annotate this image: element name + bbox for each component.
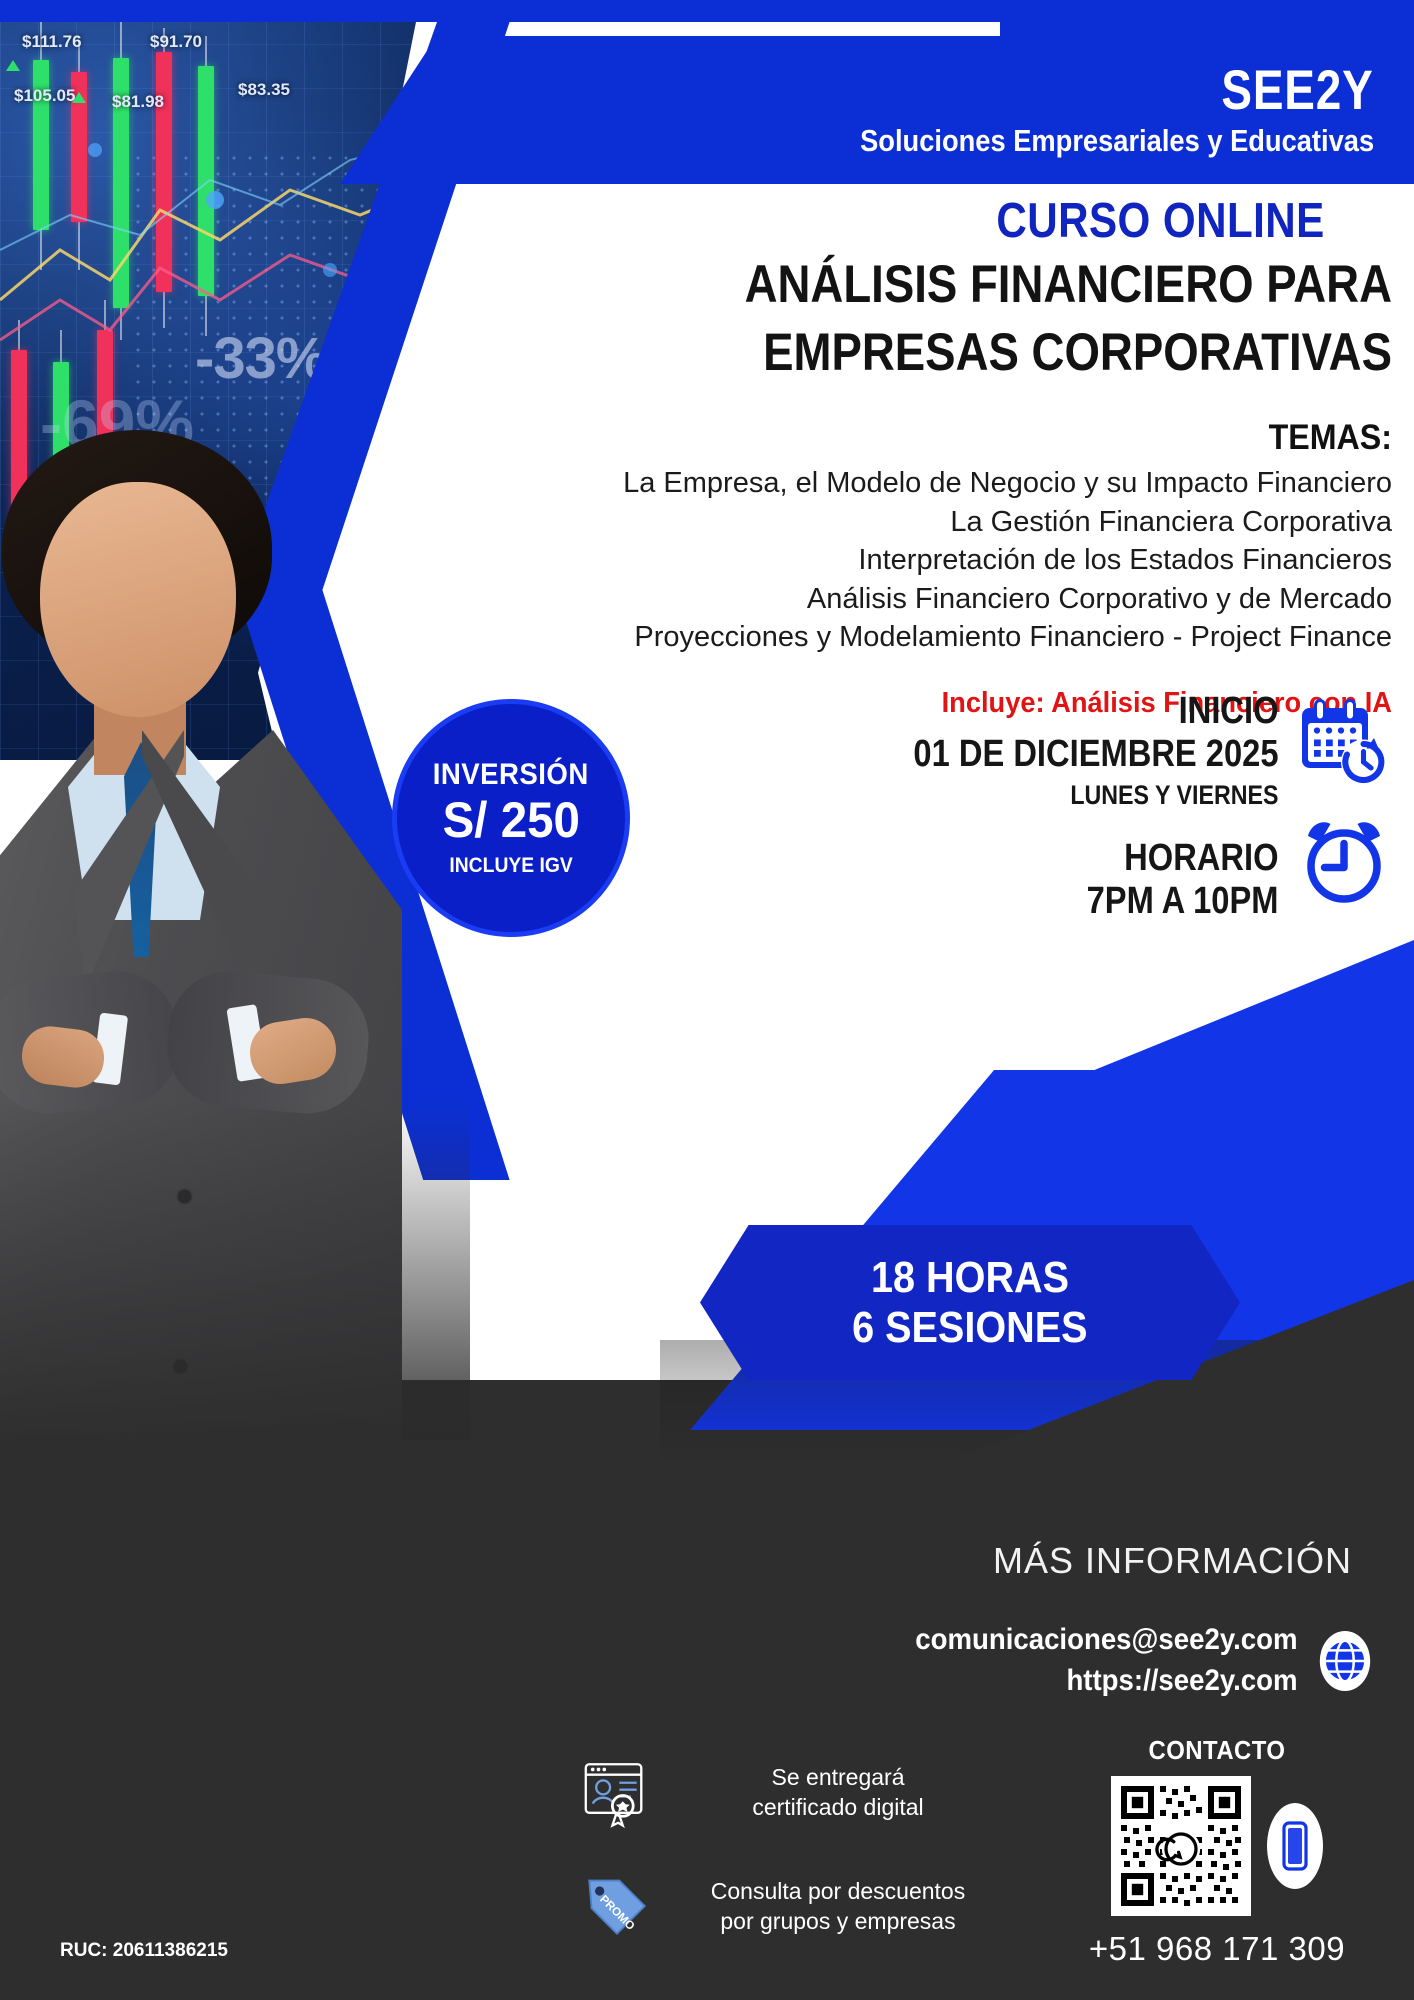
- contact-label: CONTACTO: [1036, 1735, 1398, 1766]
- course-title-line-1: ANÁLISIS FINANCIERO PARA: [565, 255, 1392, 314]
- certificate-icon: [580, 1755, 654, 1829]
- price-tag: $105.05: [14, 86, 75, 106]
- calendar-clock-icon: [1296, 696, 1392, 792]
- topic-item: La Empresa, el Modelo de Negocio y su Im…: [430, 464, 1392, 503]
- brand-name: SEE2Y: [1222, 62, 1374, 118]
- time-label: HORARIO: [913, 837, 1278, 880]
- more-info-heading: MÁS INFORMACIÓN: [560, 1540, 1414, 1582]
- topic-item: Interpretación de los Estados Financiero…: [430, 541, 1392, 580]
- price-tax-note: INCLUYE IGV: [449, 854, 572, 878]
- schedule-text: INICIO 01 DE DICIEMBRE 2025 LUNES Y VIER…: [854, 690, 1279, 923]
- mobile-phone-icon: [1267, 1803, 1323, 1889]
- photo-fade-overlay: [0, 1100, 470, 1440]
- perk-item: PROMO Consulta por descuentos por grupos…: [580, 1869, 1000, 1943]
- contact-links: comunicaciones@see2y.com https://see2y.c…: [560, 1620, 1414, 1701]
- qr-code-pattern: [1118, 1783, 1244, 1909]
- price-tag: $111.76: [22, 32, 82, 52]
- alarm-clock-icon: [1296, 812, 1392, 908]
- perk-line-2: por grupos y empresas: [676, 1906, 1000, 1936]
- percent-label: -33%: [195, 325, 326, 392]
- perk-line-1: Consulta por descuentos: [676, 1876, 1000, 1906]
- start-label: INICIO: [913, 690, 1278, 733]
- topic-item: La Gestión Financiera Corporativa: [430, 503, 1392, 542]
- contact-phone[interactable]: +51 968 171 309: [1020, 1930, 1414, 1968]
- price-tag: $83.35: [238, 80, 290, 100]
- phone-glyph: [1282, 1821, 1308, 1871]
- top-blue-stripe-right: [1000, 0, 1414, 36]
- contact-text-group: comunicaciones@see2y.com https://see2y.c…: [882, 1620, 1298, 1701]
- brand-header: SEE2Y Soluciones Empresariales y Educati…: [340, 36, 1414, 184]
- schedule-block: INICIO 01 DE DICIEMBRE 2025 LUNES Y VIER…: [640, 690, 1414, 923]
- contact-website[interactable]: https://see2y.com: [916, 1661, 1298, 1702]
- photo-face: [40, 482, 236, 717]
- course-title-line-2: EMPRESAS CORPORATIVAS: [565, 323, 1392, 382]
- class-days: LUNES Y VIERNES: [913, 779, 1278, 811]
- perks-list: Se entregará certificado digital PROMO C…: [580, 1755, 1000, 1983]
- poster-canvas: $111.76 $91.70 $105.05 $81.98 $83.35 -33…: [0, 0, 1414, 2000]
- course-kicker: CURSO ONLINE: [497, 196, 1324, 247]
- duration-sessions: 6 SESIONES: [852, 1303, 1088, 1353]
- whatsapp-qr-code[interactable]: [1111, 1776, 1251, 1916]
- trend-up-arrow-icon: [72, 92, 86, 103]
- brand-tagline: Soluciones Empresariales y Educativas: [860, 124, 1374, 158]
- promo-tag-icon: PROMO: [580, 1869, 654, 1943]
- topics-list: La Empresa, el Modelo de Negocio y su Im…: [430, 464, 1392, 657]
- perk-line-2: certificado digital: [676, 1792, 1000, 1822]
- time-value: 7PM A 10PM: [913, 880, 1278, 923]
- globe-icon: [1314, 1630, 1376, 1692]
- perk-line-1: Se entregará: [676, 1762, 1000, 1792]
- schedule-icons: [1296, 690, 1392, 908]
- course-copy-block: CURSO ONLINE ANÁLISIS FINANCIERO PARA EM…: [430, 196, 1414, 720]
- perk-item: Se entregará certificado digital: [580, 1755, 1000, 1829]
- topic-item: Análisis Financiero Corporativo y de Mer…: [430, 580, 1392, 619]
- duration-banner: 18 HORAS 6 SESIONES: [700, 1225, 1240, 1380]
- contact-email[interactable]: comunicaciones@see2y.com: [916, 1620, 1298, 1661]
- contact-row: [1020, 1776, 1414, 1916]
- price-label: INVERSIÓN: [433, 758, 589, 792]
- perk-text: Consulta por descuentos por grupos y emp…: [676, 1876, 1000, 1937]
- trend-up-arrow-icon: [6, 60, 20, 71]
- topic-item: Proyecciones y Modelamiento Financiero -…: [430, 618, 1392, 657]
- price-tag: $81.98: [112, 92, 164, 112]
- topics-label: TEMAS:: [507, 418, 1392, 458]
- perk-text: Se entregará certificado digital: [676, 1762, 1000, 1823]
- price-tag: $91.70: [150, 32, 202, 52]
- price-badge: INVERSIÓN S/ 250 INCLUYE IGV: [392, 699, 630, 937]
- contact-box: CONTACTO: [1020, 1735, 1414, 1968]
- duration-hours: 18 HORAS: [871, 1253, 1069, 1303]
- company-ruc: RUC: 20611386215: [60, 1940, 228, 1962]
- price-amount: S/ 250: [442, 794, 579, 847]
- start-date: 01 DE DICIEMBRE 2025: [913, 733, 1278, 776]
